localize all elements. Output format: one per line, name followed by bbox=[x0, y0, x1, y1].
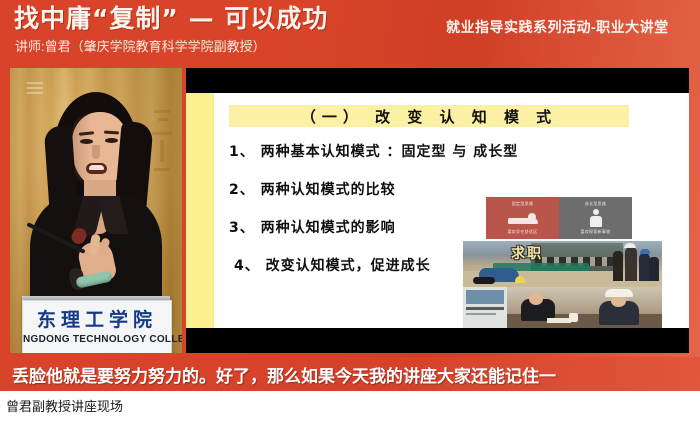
job-seeking-photo: 求职 bbox=[463, 241, 662, 287]
slide-heading: （一） 改 变 认 知 模 式 bbox=[229, 105, 629, 127]
photo-caption: 曾君副教授讲座现场 bbox=[6, 396, 123, 415]
cup-shape bbox=[569, 313, 578, 322]
poster-line-one bbox=[466, 307, 504, 310]
lying-person-icon bbox=[508, 213, 538, 225]
yellow-helmet-icon bbox=[515, 276, 525, 283]
bystander-four bbox=[649, 257, 659, 281]
bystander-three-hat bbox=[640, 249, 650, 254]
subtitle-band: 丢脸他就是要努力努力的。好了，那么如果今天我的讲座大家还能记住一 bbox=[0, 357, 700, 391]
wall-poster bbox=[463, 287, 507, 328]
podium-sign: 东理工学院 NGDONG TECHNOLOGY COLLEGE bbox=[22, 300, 172, 353]
sleeping-worker-head bbox=[529, 293, 543, 305]
subtitle-text: 丢脸他就是要努力努力的。好了，那么如果今天我的讲座大家还能记住一 bbox=[12, 362, 556, 387]
growth-mindset-title: 成长型思维 bbox=[559, 201, 632, 207]
bystander-two-hat bbox=[624, 243, 636, 248]
poster-image bbox=[466, 290, 504, 304]
slide-bullet-1: 1、 两种基本认知模式 ：固定型 与 成长型 bbox=[229, 141, 518, 161]
slide-bullet-4: 4、 改变认知模式，促进成长 bbox=[234, 255, 431, 275]
speaker-figure bbox=[24, 92, 166, 308]
growth-mindset-caption: 喜欢探索新事物 bbox=[559, 229, 632, 235]
white-hat-icon bbox=[605, 289, 633, 297]
poster-line-two bbox=[466, 313, 496, 315]
page-title: 找中庸“复制” — 可以成功 bbox=[14, 4, 328, 34]
paper-sheet bbox=[547, 318, 571, 323]
speaker-photo: 东理工学院 NGDONG TECHNOLOGY COLLEGE bbox=[10, 68, 182, 353]
teeth-shape bbox=[89, 165, 104, 170]
podium-sign-english: NGDONG TECHNOLOGY COLLEGE bbox=[23, 334, 171, 345]
bystander-two bbox=[625, 247, 637, 281]
slide-accent-band bbox=[186, 93, 214, 328]
bystander-one bbox=[613, 251, 623, 281]
slide-bullet-3: 3、 两种认知模式的影响 bbox=[229, 217, 396, 237]
mindset-comparison-graphic: 固定型思维 喜欢呆在舒适区 成长型思维 喜欢探索新事物 bbox=[486, 197, 632, 239]
eye-right bbox=[105, 138, 118, 143]
collage-label-job-seeking: 求职 bbox=[511, 243, 543, 263]
eye-left bbox=[80, 139, 93, 144]
video-frame: 找中庸“复制” — 可以成功 讲师:曾君（肇庆学院教育科学学院副教授） 就业指导… bbox=[0, 0, 700, 425]
at-work-photo: 上班 bbox=[463, 287, 662, 328]
footer-area: 曾君副教授讲座现场 bbox=[0, 391, 700, 425]
slide-bullet-2: 2、 两种认知模式的比较 bbox=[229, 179, 396, 199]
slide-content-area: （一） 改 变 认 知 模 式 1、 两种基本认知模式 ：固定型 与 成长型 2… bbox=[186, 93, 689, 328]
fixed-mindset-title: 固定型思维 bbox=[486, 201, 559, 207]
standing-person-icon bbox=[588, 209, 604, 227]
fixed-mindset-panel: 固定型思维 喜欢呆在舒适区 bbox=[486, 197, 559, 239]
photo-collage: 求职 上班 bbox=[463, 241, 662, 328]
slide-heading-text: （一） 改 变 认 知 模 式 bbox=[301, 106, 557, 127]
podium-sign-chinese: 东理工学院 bbox=[23, 305, 171, 332]
speaker-subtitle: 讲师:曾君（肇庆学院教育科学学院副教授） bbox=[15, 38, 266, 56]
fixed-mindset-caption: 喜欢呆在舒适区 bbox=[486, 229, 559, 235]
growth-mindset-panel: 成长型思维 喜欢探索新事物 bbox=[559, 197, 632, 239]
kneeling-person-arms bbox=[473, 277, 495, 284]
presentation-slide: （一） 改 变 认 知 模 式 1、 两种基本认知模式 ：固定型 与 成长型 2… bbox=[186, 68, 689, 353]
nose-shape bbox=[92, 145, 100, 159]
event-series-label: 就业指导实践系列活动-职业大讲堂 bbox=[446, 17, 669, 37]
